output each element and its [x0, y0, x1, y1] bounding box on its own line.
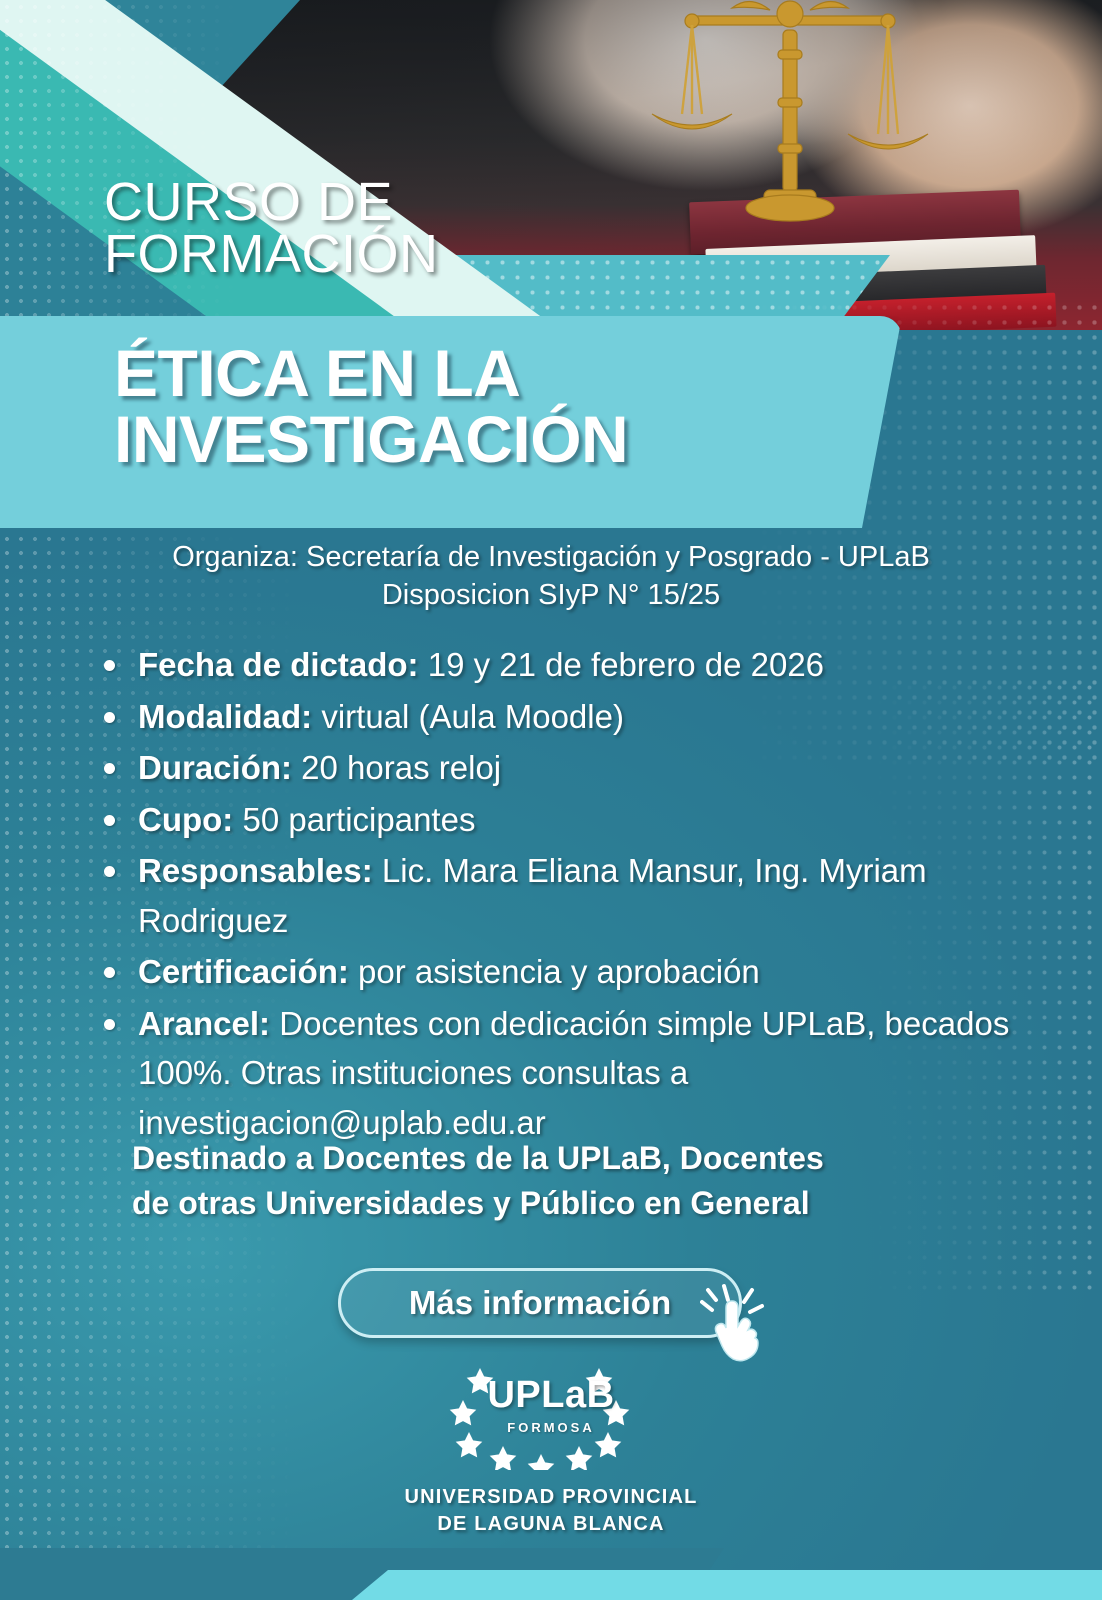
- list-item: Arancel: Docentes con dedicación simple …: [96, 999, 1026, 1148]
- detail-value: por asistencia y aprobación: [349, 953, 760, 990]
- disposition-line: Disposicion SIyP N° 15/25: [0, 576, 1102, 614]
- organizer-block: Organiza: Secretaría de Investigación y …: [0, 538, 1102, 615]
- uplab-logo: UPLaB FORMOSA UNIVERSIDAD PROVINCIAL DE …: [0, 1358, 1102, 1538]
- detail-label: Modalidad:: [138, 698, 312, 735]
- title-band: ÉTICA EN LA INVESTIGACIÓN: [0, 316, 902, 528]
- university-name-line-2: DE LAGUNA BLANCA: [0, 1511, 1102, 1538]
- logo-mark: UPLaB FORMOSA: [436, 1358, 666, 1470]
- pointing-hand-click-icon: [700, 1280, 772, 1366]
- audience-line-2: de otras Universidades y Público en Gene…: [132, 1181, 1012, 1226]
- course-kicker: CURSO DE FORMACIÓN: [104, 176, 439, 281]
- more-info-button[interactable]: Más información: [338, 1268, 742, 1338]
- detail-label: Fecha de dictado:: [138, 646, 419, 683]
- flyer-poster: CURSO DE FORMACIÓN ÉTICA EN LA INVESTIGA…: [0, 0, 1102, 1600]
- detail-label: Arancel:: [138, 1005, 270, 1042]
- detail-value: 20 horas reloj: [292, 749, 501, 786]
- list-item: Fecha de dictado: 19 y 21 de febrero de …: [96, 640, 1026, 690]
- title-line-1: ÉTICA EN LA: [114, 340, 628, 406]
- university-name: UNIVERSIDAD PROVINCIAL DE LAGUNA BLANCA: [0, 1484, 1102, 1538]
- audience-line-1: Destinado a Docentes de la UPLaB, Docent…: [132, 1136, 1012, 1181]
- audience-block: Destinado a Docentes de la UPLaB, Docent…: [132, 1136, 1012, 1227]
- detail-value: 19 y 21 de febrero de 2026: [419, 646, 824, 683]
- detail-value: 50 participantes: [233, 801, 475, 838]
- detail-label: Duración:: [138, 749, 292, 786]
- list-item: Duración: 20 horas reloj: [96, 743, 1026, 793]
- logo-wordmark: UPLaB: [436, 1374, 666, 1417]
- page-title: ÉTICA EN LA INVESTIGACIÓN: [114, 340, 628, 472]
- organizer-line: Organiza: Secretaría de Investigación y …: [0, 538, 1102, 576]
- more-info-label: Más información: [409, 1284, 671, 1322]
- title-line-2: INVESTIGACIÓN: [114, 406, 628, 472]
- detail-value: virtual (Aula Moodle): [312, 698, 624, 735]
- list-item: Responsables: Lic. Mara Eliana Mansur, I…: [96, 846, 1026, 945]
- detail-label: Certificación:: [138, 953, 349, 990]
- kicker-line-1: CURSO DE: [104, 176, 439, 228]
- course-details-list: Fecha de dictado: 19 y 21 de febrero de …: [96, 640, 1026, 1149]
- list-item: Modalidad: virtual (Aula Moodle): [96, 692, 1026, 742]
- detail-label: Cupo:: [138, 801, 233, 838]
- detail-label: Responsables:: [138, 852, 373, 889]
- list-item: Cupo: 50 participantes: [96, 795, 1026, 845]
- kicker-line-2: FORMACIÓN: [104, 228, 439, 280]
- logo-city: FORMOSA: [436, 1420, 666, 1435]
- scales-of-justice-icon: [640, 0, 940, 244]
- university-name-line-1: UNIVERSIDAD PROVINCIAL: [0, 1484, 1102, 1511]
- list-item: Certificación: por asistencia y aprobaci…: [96, 947, 1026, 997]
